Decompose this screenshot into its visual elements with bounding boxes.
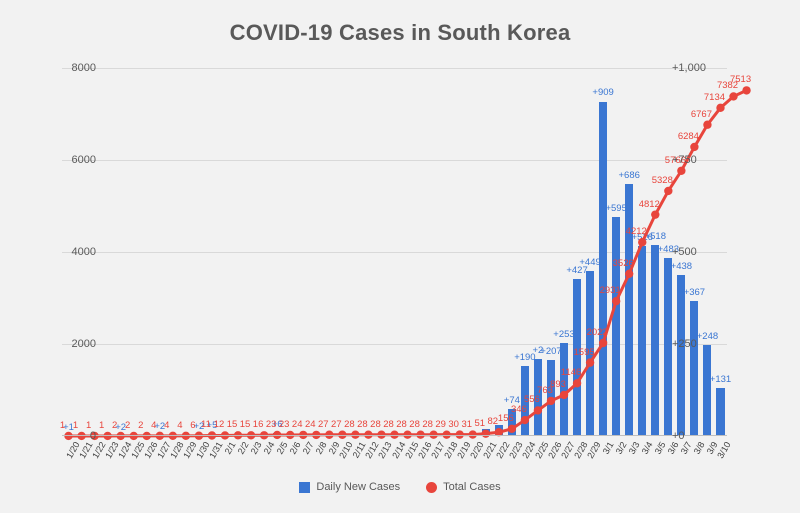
total-value-label: 7134 [704, 92, 725, 103]
x-tick-label: 2/1 [223, 440, 238, 456]
x-tick-label: 2/13 [377, 440, 394, 460]
total-value-label: 2022 [587, 327, 608, 338]
total-value-label: 23 [266, 419, 277, 430]
line-point[interactable] [599, 339, 607, 347]
line-point[interactable] [612, 297, 620, 305]
x-tick-label: 2/2 [236, 440, 251, 456]
line-point[interactable] [534, 406, 542, 414]
x-tick-label: 2/8 [314, 440, 329, 456]
y-tick-right: +1,000 [672, 62, 706, 74]
y-tick-right: +250 [672, 338, 697, 350]
total-value-label: 7513 [730, 74, 751, 85]
x-axis-line [62, 435, 727, 436]
total-value-label: 16 [253, 419, 264, 430]
y-tick-right: +750 [672, 154, 697, 166]
total-value-label: 4 [164, 420, 169, 431]
x-tick-label: 3/1 [601, 440, 616, 456]
line-point[interactable] [586, 358, 594, 366]
total-value-label: 12 [214, 419, 225, 430]
total-value-label: 28 [383, 419, 394, 430]
total-value-label: 28 [422, 419, 433, 430]
line-point[interactable] [625, 270, 633, 278]
line-point[interactable] [651, 210, 659, 218]
line-point[interactable] [560, 391, 568, 399]
line-point[interactable] [703, 121, 711, 129]
total-value-label: 4212 [626, 226, 647, 237]
total-value-label: 4 [177, 420, 182, 431]
plot-area: +1+2+2+2+5+6+74+190+2+207+253+427+449+90… [62, 68, 727, 436]
total-value-label: 2931 [600, 285, 621, 296]
total-value-label: 2 [112, 420, 117, 431]
total-value-label: 82 [488, 416, 499, 427]
legend-label: Total Cases [443, 481, 500, 493]
x-tick-label: 2/7 [301, 440, 316, 456]
page-title: COVID-19 Cases in South Korea [0, 20, 800, 46]
x-tick-label: 3/6 [666, 440, 681, 456]
total-value-label: 3526 [613, 258, 634, 269]
total-value-label: 24 [305, 419, 316, 430]
total-value-label: 28 [344, 419, 355, 430]
x-tick-label: 2/14 [390, 440, 407, 460]
y-tick-left: 4000 [36, 246, 96, 258]
line-point[interactable] [664, 187, 672, 195]
line-point[interactable] [482, 429, 490, 437]
line-point[interactable] [547, 397, 555, 405]
line-point[interactable] [729, 92, 737, 100]
total-value-label: 30 [448, 419, 459, 430]
total-value-label: 29 [435, 419, 446, 430]
line-point[interactable] [690, 143, 698, 151]
total-cases-line [69, 90, 747, 436]
total-value-label: 2 [138, 420, 143, 431]
line-point[interactable] [638, 238, 646, 246]
total-value-label: 4 [151, 420, 156, 431]
x-tick-label: 3/8 [692, 440, 707, 456]
x-tick-label: 3/5 [653, 440, 668, 456]
x-tick-label: 2/4 [262, 440, 277, 456]
legend-item-daily-new-cases[interactable]: Daily New Cases [299, 481, 400, 493]
x-tick-label: 3/7 [679, 440, 694, 456]
line-point[interactable] [677, 167, 685, 175]
x-tick-label: 3/2 [614, 440, 629, 456]
x-axis-labels: 1/201/211/221/231/241/251/261/271/281/29… [62, 440, 727, 486]
x-tick-label: 2/6 [288, 440, 303, 456]
x-tick-label: 3/4 [640, 440, 655, 456]
line-series [62, 68, 727, 436]
y-tick-left: 8000 [36, 62, 96, 74]
legend-circle-icon [426, 482, 437, 493]
total-value-label: 27 [331, 419, 342, 430]
line-point[interactable] [521, 416, 529, 424]
total-value-label: 11 [201, 419, 211, 430]
total-value-label: 6 [190, 420, 195, 431]
y-tick-left: 2000 [36, 338, 96, 350]
line-point[interactable] [716, 104, 724, 112]
line-point[interactable] [742, 86, 750, 94]
total-value-label: 1 [99, 420, 104, 431]
total-value-label: 6284 [678, 131, 699, 142]
total-value-label: 28 [357, 419, 368, 430]
total-value-label: 2 [125, 420, 130, 431]
total-value-label: 23 [279, 419, 290, 430]
total-value-label: 1595 [574, 347, 595, 358]
total-value-label: 27 [318, 419, 329, 430]
chart-container: COVID-19 Cases in South Korea +1+2+2+2+5… [0, 0, 800, 513]
x-tick-label: 2/5 [275, 440, 290, 456]
total-value-label: 31 [461, 419, 472, 430]
x-tick-label: 3/3 [627, 440, 642, 456]
y-tick-left: 6000 [36, 154, 96, 166]
total-value-label: 5328 [652, 175, 673, 186]
total-value-label: 28 [409, 419, 420, 430]
legend-item-total-cases[interactable]: Total Cases [426, 481, 500, 493]
legend-square-icon [299, 482, 310, 493]
total-value-label: 24 [292, 419, 303, 430]
x-tick-label: 3/10 [716, 440, 733, 460]
total-value-label: 4812 [639, 199, 660, 210]
total-value-label: 28 [370, 419, 381, 430]
line-point[interactable] [508, 425, 516, 433]
total-value-label: 15 [227, 419, 238, 430]
x-tick-label: 2/3 [249, 440, 264, 456]
total-value-label: 15 [240, 419, 251, 430]
total-value-label: 893 [550, 379, 566, 390]
x-tick-label: 1/20 [64, 440, 81, 460]
total-value-label: 346 [511, 404, 527, 415]
y-tick-right: +500 [672, 246, 697, 258]
total-value-label: 1146 [561, 367, 581, 378]
total-value-label: 28 [396, 419, 407, 430]
total-value-label: 556 [524, 394, 540, 405]
total-value-label: 6767 [691, 109, 712, 120]
line-point[interactable] [573, 379, 581, 387]
chart-legend: Daily New CasesTotal Cases [0, 481, 800, 493]
total-value-label: 51 [474, 418, 485, 429]
legend-label: Daily New Cases [316, 481, 400, 493]
